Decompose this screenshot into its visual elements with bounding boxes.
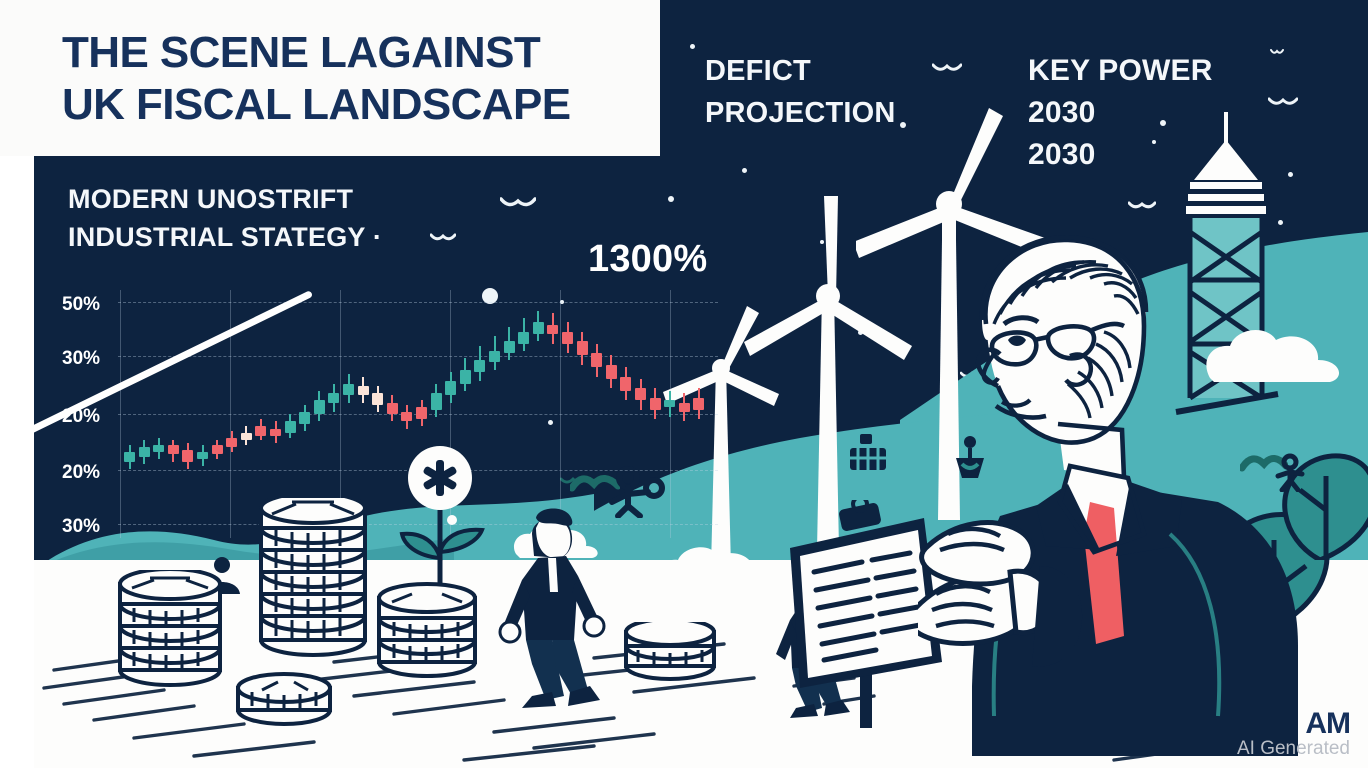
key-power-heading: KEY POWER 2030 2030 xyxy=(1028,50,1213,176)
candle-body xyxy=(182,450,193,462)
candle-body xyxy=(547,325,558,334)
official-with-clipboard xyxy=(918,216,1338,756)
candle-body xyxy=(518,332,529,344)
big-stat-value: 1300% xyxy=(588,238,707,281)
candle-body xyxy=(270,429,281,436)
illustration-canvas: 50% 30% 20% 20% 30% 1300% xyxy=(0,0,1368,768)
candle-body xyxy=(299,412,310,424)
candle-body xyxy=(328,393,339,402)
title-card: THE SCENE LAGAINST UK FISCAL LANDSCAPE xyxy=(0,0,660,156)
candle-body xyxy=(591,353,602,367)
candle-body xyxy=(577,341,588,355)
candle-body xyxy=(664,400,675,407)
candle-body xyxy=(431,393,442,410)
seagull-icon xyxy=(1270,48,1284,57)
candle-body xyxy=(606,365,617,379)
candle-body xyxy=(168,445,179,454)
candle-body xyxy=(445,381,456,395)
star-dot xyxy=(668,196,674,202)
watermark: AM AI Generated xyxy=(1237,710,1350,760)
candle-body xyxy=(212,445,223,454)
candle-body xyxy=(401,412,412,421)
candle-body xyxy=(387,403,398,415)
candle-body xyxy=(241,433,252,440)
candle-body xyxy=(358,386,369,395)
page-title: THE SCENE LAGAINST UK FISCAL LANDSCAPE xyxy=(62,27,570,131)
candle-body xyxy=(474,360,485,372)
candle-body xyxy=(650,398,661,410)
candle-body xyxy=(226,438,237,447)
candle-body xyxy=(562,332,573,344)
subheading: MODERN UNOSTRIFT INDUSTRIAL STATEGY · xyxy=(68,180,382,256)
candle-body xyxy=(620,377,631,391)
coin-stack xyxy=(372,582,482,678)
coin-stack xyxy=(252,498,374,658)
deficit-projection-heading: DEFICT PROJECTION xyxy=(705,50,896,134)
candle-body xyxy=(124,452,135,461)
candle-body xyxy=(416,407,427,419)
seagull-icon xyxy=(430,232,456,245)
candle-body xyxy=(255,426,266,435)
seagull-icon xyxy=(1268,96,1298,110)
candle-body xyxy=(489,351,500,363)
candle-body xyxy=(635,388,646,400)
candle-body xyxy=(285,421,296,433)
seagull-icon xyxy=(500,196,536,212)
seagull-icon xyxy=(932,62,962,76)
watermark-logo: AM xyxy=(1237,710,1350,738)
candle-body xyxy=(153,445,164,452)
star-dot xyxy=(690,44,695,49)
candle-body xyxy=(460,370,471,384)
candle-body xyxy=(679,403,690,412)
hillside-equipment-icon xyxy=(846,428,890,474)
coin-stack xyxy=(112,570,228,688)
candle-body xyxy=(343,384,354,396)
candle-body xyxy=(197,452,208,459)
coin-stack xyxy=(232,664,336,726)
candle-body xyxy=(314,400,325,414)
candle-body xyxy=(372,393,383,405)
candle-body xyxy=(504,341,515,353)
watermark-label: AI Generated xyxy=(1237,738,1350,760)
walking-businessman-left xyxy=(490,500,640,720)
candle-body xyxy=(533,322,544,334)
candle-body xyxy=(693,398,704,410)
candle-body xyxy=(139,447,150,456)
